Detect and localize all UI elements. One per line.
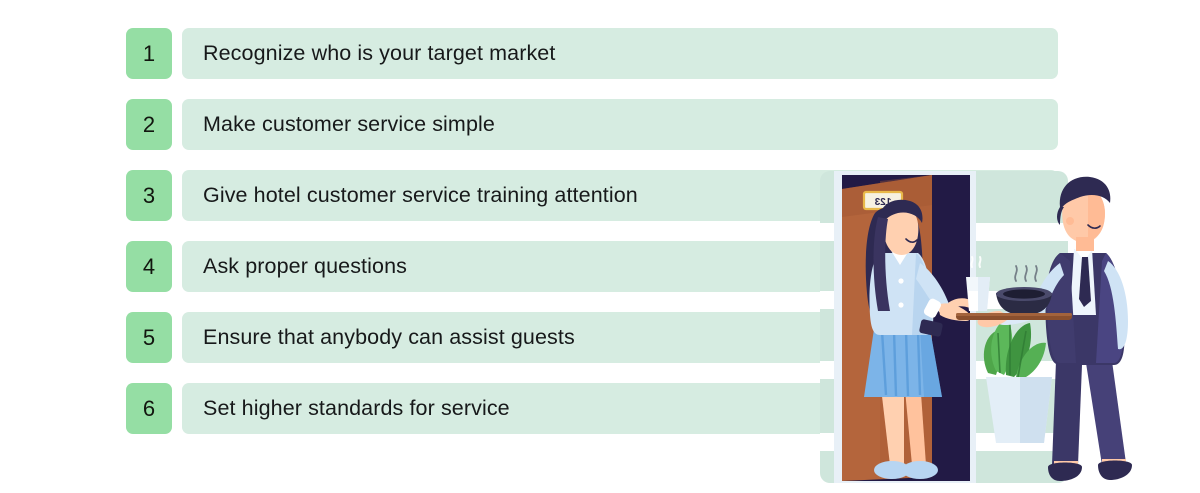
list-item-number: 4: [143, 256, 155, 278]
list-item-number: 2: [143, 114, 155, 136]
list-item-label: Recognize who is your target market: [182, 41, 555, 66]
list-item-number-badge: 5: [126, 312, 172, 363]
list-item-bar[interactable]: Make customer service simple: [182, 99, 1058, 150]
slide-root: 1 Recognize who is your target market 2 …: [0, 0, 1200, 493]
list-item-label: Ensure that anybody can assist guests: [182, 325, 575, 350]
list-item-label: Set higher standards for service: [182, 396, 510, 421]
list-item-number-badge: 6: [126, 383, 172, 434]
list-item-label: Make customer service simple: [182, 112, 495, 137]
list-item-number-badge: 4: [126, 241, 172, 292]
list-item-number: 6: [143, 398, 155, 420]
list-item-label: Ask proper questions: [182, 254, 407, 279]
list-item-number-badge: 2: [126, 99, 172, 150]
list-item-number: 3: [143, 185, 155, 207]
list-item-number: 5: [143, 327, 155, 349]
list-item[interactable]: 2 Make customer service simple: [126, 99, 1058, 150]
list-item[interactable]: 1 Recognize who is your target market: [126, 28, 1058, 79]
list-item-number: 1: [143, 43, 155, 65]
hotel-room-service-illustration: 123: [820, 165, 1200, 493]
list-item-number-badge: 3: [126, 170, 172, 221]
list-item-number-badge: 1: [126, 28, 172, 79]
list-item-label: Give hotel customer service training att…: [182, 183, 638, 208]
list-item-bar[interactable]: Recognize who is your target market: [182, 28, 1058, 79]
